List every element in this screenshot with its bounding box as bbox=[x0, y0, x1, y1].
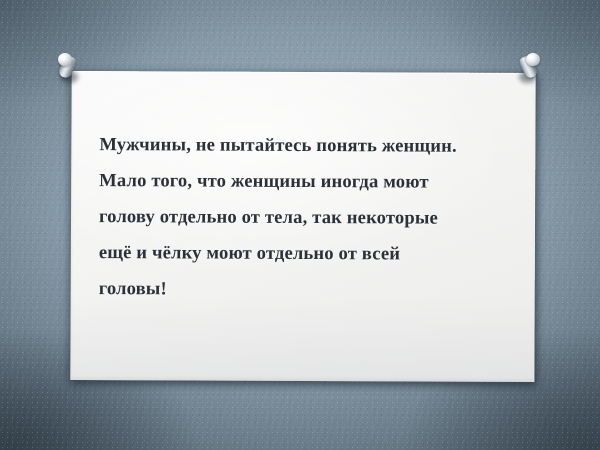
push-pin-icon-right bbox=[512, 50, 546, 86]
quote-line-3: голову отдельно от тела, так некоторые bbox=[99, 199, 517, 237]
quote-line-5: головы! bbox=[99, 271, 517, 309]
pin-glint-right bbox=[528, 55, 533, 59]
quote-line-1: Мужчины, не пытайтесь понять женщин. bbox=[99, 127, 517, 165]
quote-line-4: ещё и чёлку моют отдельно от всей bbox=[99, 235, 517, 273]
paper-sheet: Мужчины, не пытайтесь понять женщин. Мал… bbox=[70, 71, 535, 382]
quote-line-2: Мало того, что женщины иногда моют bbox=[99, 163, 517, 201]
push-pin-icon-left bbox=[52, 50, 86, 86]
pin-glint-left bbox=[60, 55, 65, 59]
pinned-note-scene: Мужчины, не пытайтесь понять женщин. Мал… bbox=[0, 0, 600, 450]
quote-text-block: Мужчины, не пытайтесь понять женщин. Мал… bbox=[99, 127, 518, 309]
paper-note: Мужчины, не пытайтесь понять женщин. Мал… bbox=[68, 70, 536, 384]
